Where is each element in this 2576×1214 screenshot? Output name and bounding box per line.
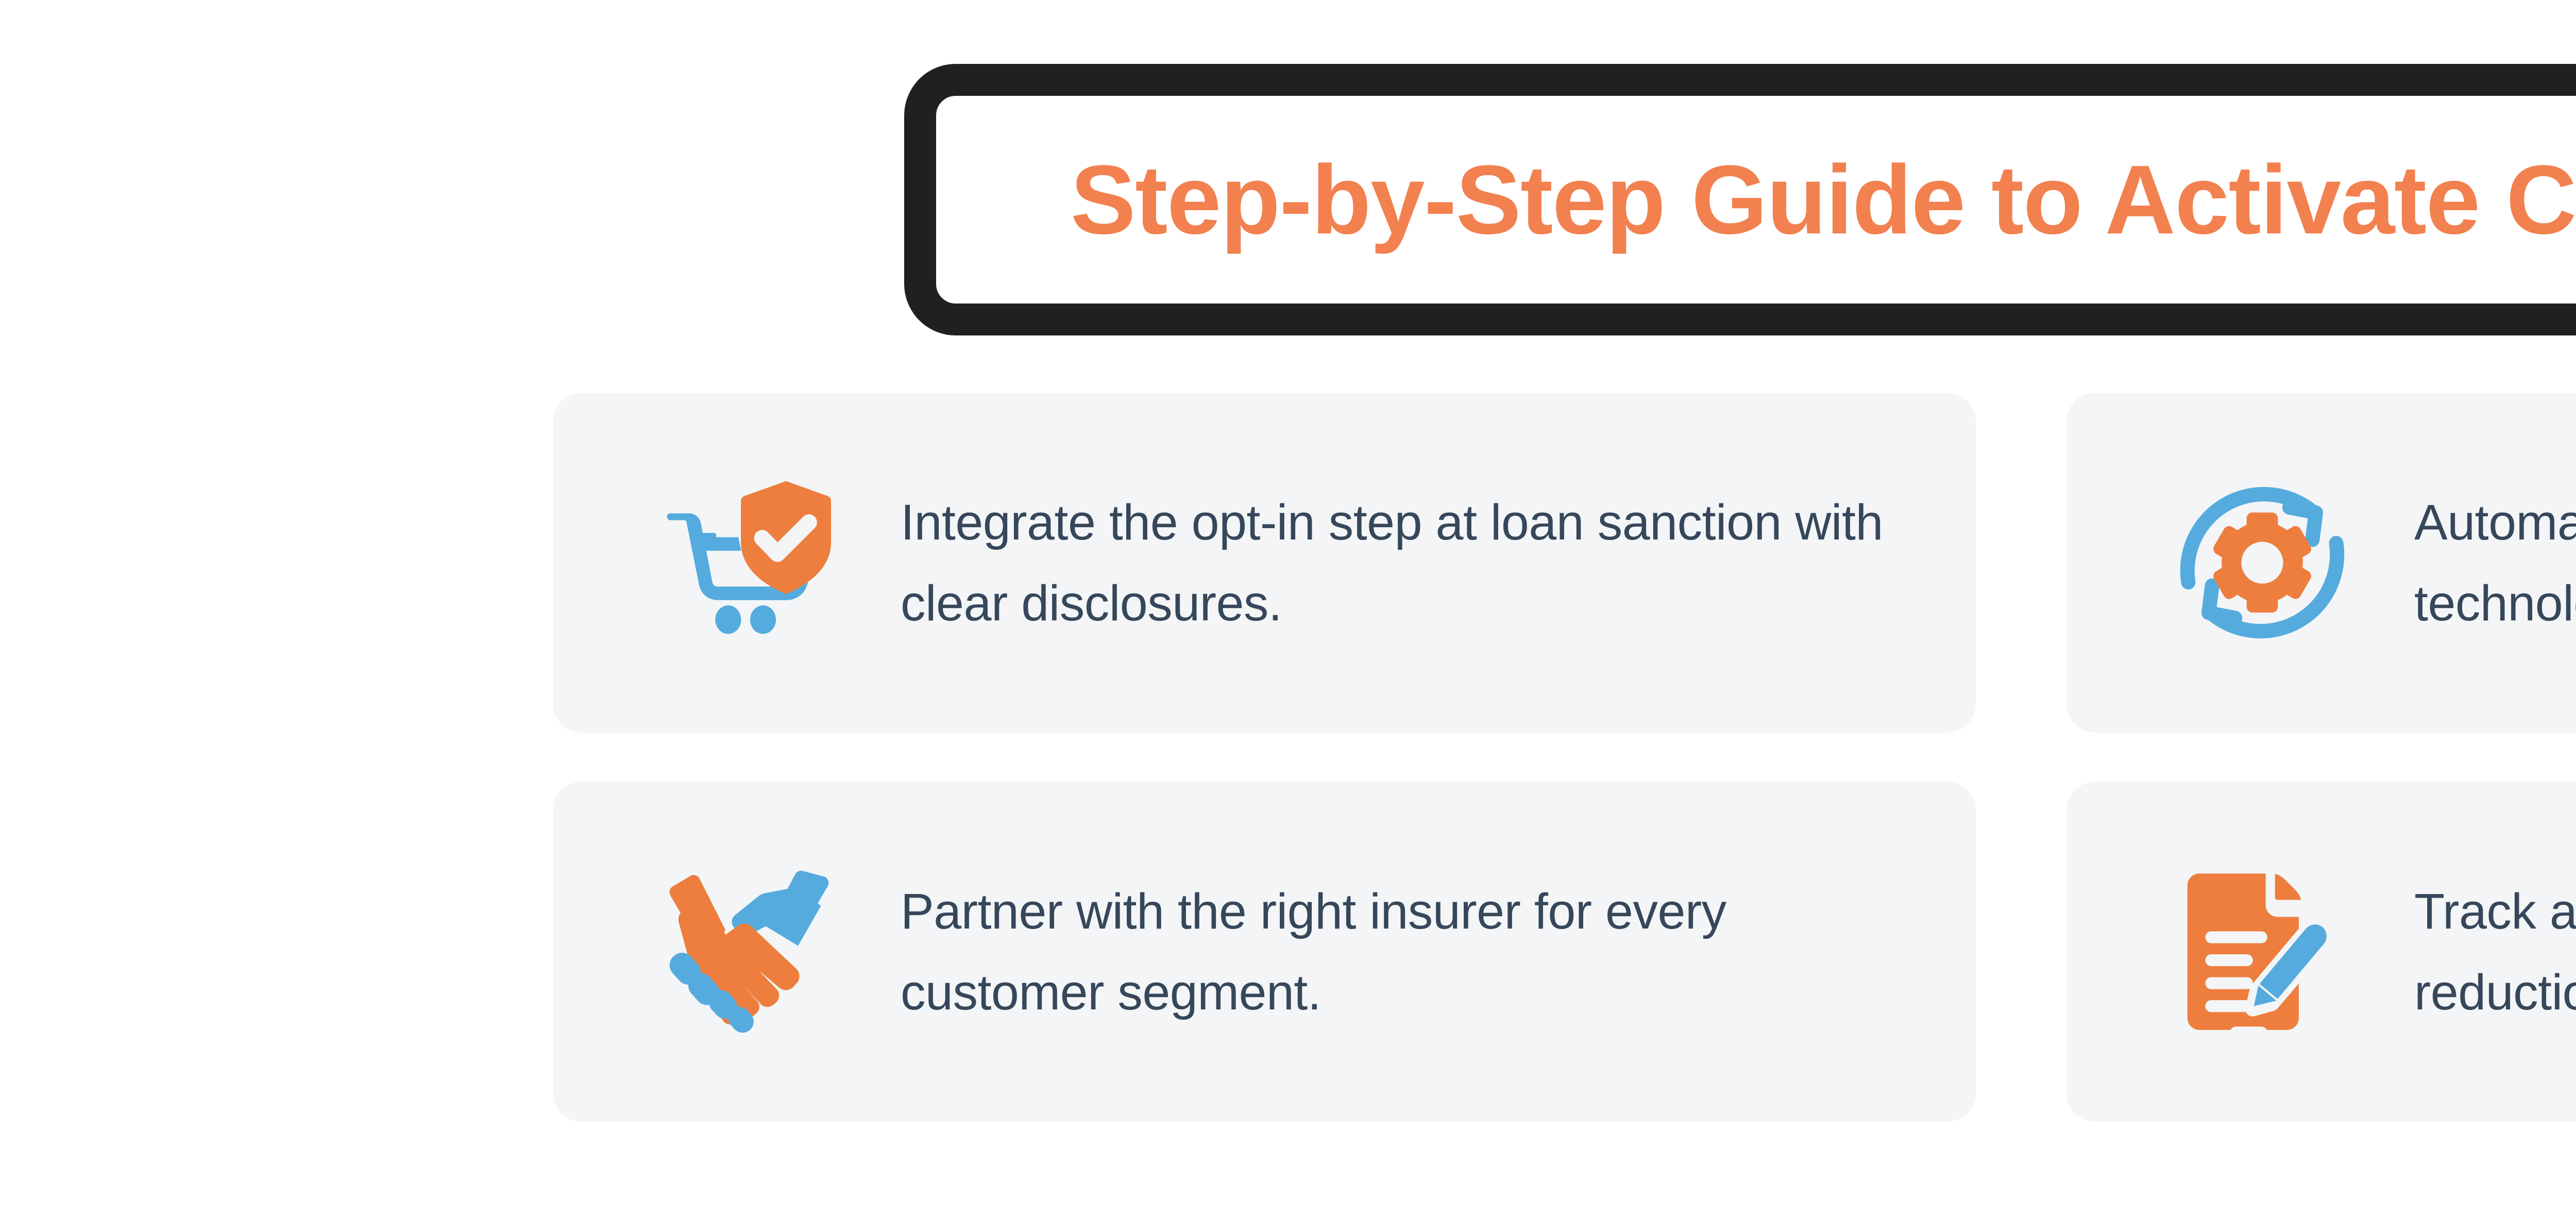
step-card-1[interactable]: Integrate the opt-in step at loan sancti… — [553, 393, 1976, 733]
cart-shield-check-icon — [664, 478, 834, 648]
gear-refresh-icon — [2177, 478, 2347, 648]
steps-card-grid: Integrate the opt-in step at loan sancti… — [553, 393, 2576, 1122]
document-pencil-icon — [2177, 867, 2347, 1037]
page-title: Step-by-Step Guide to Activate Credit Li… — [1071, 151, 2576, 249]
handshake-icon — [664, 867, 834, 1037]
step-card-3-text: Partner with the right insurer for every… — [901, 871, 1919, 1033]
step-card-3[interactable]: Partner with the right insurer for every… — [553, 782, 1976, 1122]
step-card-1-text: Integrate the opt-in step at loan sancti… — [901, 482, 1919, 644]
step-card-2-text: Automate policy, payment, and claims thr… — [2414, 482, 2576, 644]
step-card-4[interactable]: Track attachment rate, claim speed, and … — [2066, 782, 2576, 1122]
title-banner: Step-by-Step Guide to Activate Credit Li… — [904, 64, 2576, 335]
step-card-4-text: Track attachment rate, claim speed, and … — [2414, 871, 2576, 1033]
step-card-2[interactable]: Automate policy, payment, and claims thr… — [2066, 393, 2576, 733]
